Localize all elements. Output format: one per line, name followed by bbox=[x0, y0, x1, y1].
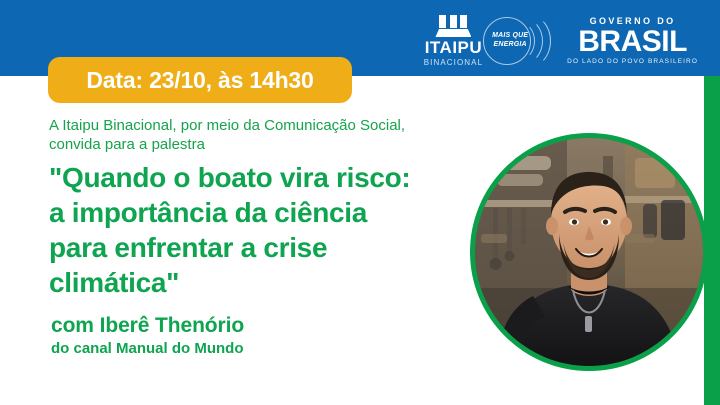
speaker-info: com Iberê Thenório do canal Manual do Mu… bbox=[51, 313, 451, 358]
speaker-portrait bbox=[475, 138, 703, 366]
portrait-illustration bbox=[475, 138, 703, 366]
governo-tagline: DO LADO DO POVO BRASILEIRO bbox=[567, 59, 698, 66]
itaipu-subtitle: BINACIONAL bbox=[424, 59, 483, 67]
speaker-name: com Iberê Thenório bbox=[51, 313, 451, 338]
mais-que-energia-text: MAIS QUE ENERGIA bbox=[490, 31, 530, 49]
brasil-wordmark: BRASIL bbox=[567, 28, 698, 57]
date-badge-text: Data: 23/10, às 14h30 bbox=[86, 67, 313, 94]
intro-text: A Itaipu Binacional, por meio da Comunic… bbox=[49, 116, 479, 154]
event-poster: ITAIPU BINACIONAL MAIS QUE ENERGIA GOVER… bbox=[0, 0, 720, 405]
governo-do-brasil-logo: GOVERNO DO BRASIL DO LADO DO POVO BRASIL… bbox=[567, 17, 698, 66]
date-badge: Data: 23/10, às 14h30 bbox=[48, 57, 352, 103]
intro-line-2: convida para a palestra bbox=[49, 136, 205, 153]
title-line-4: climática" bbox=[49, 267, 179, 298]
lecture-title: "Quando o boato vira risco: a importânci… bbox=[49, 160, 469, 300]
speaker-channel: do canal Manual do Mundo bbox=[51, 339, 451, 358]
intro-line-1: A Itaipu Binacional, por meio da Comunic… bbox=[49, 117, 405, 134]
slogan-line-2: ENERGIA bbox=[494, 41, 527, 48]
speaker-portrait-ring bbox=[470, 133, 708, 371]
itaipu-mark: ITAIPU BINACIONAL bbox=[424, 15, 483, 67]
logo-group: ITAIPU BINACIONAL MAIS QUE ENERGIA GOVER… bbox=[424, 12, 698, 70]
dam-icon bbox=[434, 15, 472, 37]
mais-que-energia-emblem: MAIS QUE ENERGIA bbox=[481, 14, 553, 68]
slogan-line-1: MAIS QUE bbox=[492, 32, 528, 39]
itaipu-wordmark: ITAIPU bbox=[425, 39, 482, 56]
title-line-1: "Quando o boato vira risco: bbox=[49, 162, 410, 193]
itaipu-logo: ITAIPU BINACIONAL MAIS QUE ENERGIA bbox=[424, 14, 553, 68]
title-line-2: a importância da ciência bbox=[49, 197, 367, 228]
title-line-3: para enfrentar a crise bbox=[49, 232, 327, 263]
